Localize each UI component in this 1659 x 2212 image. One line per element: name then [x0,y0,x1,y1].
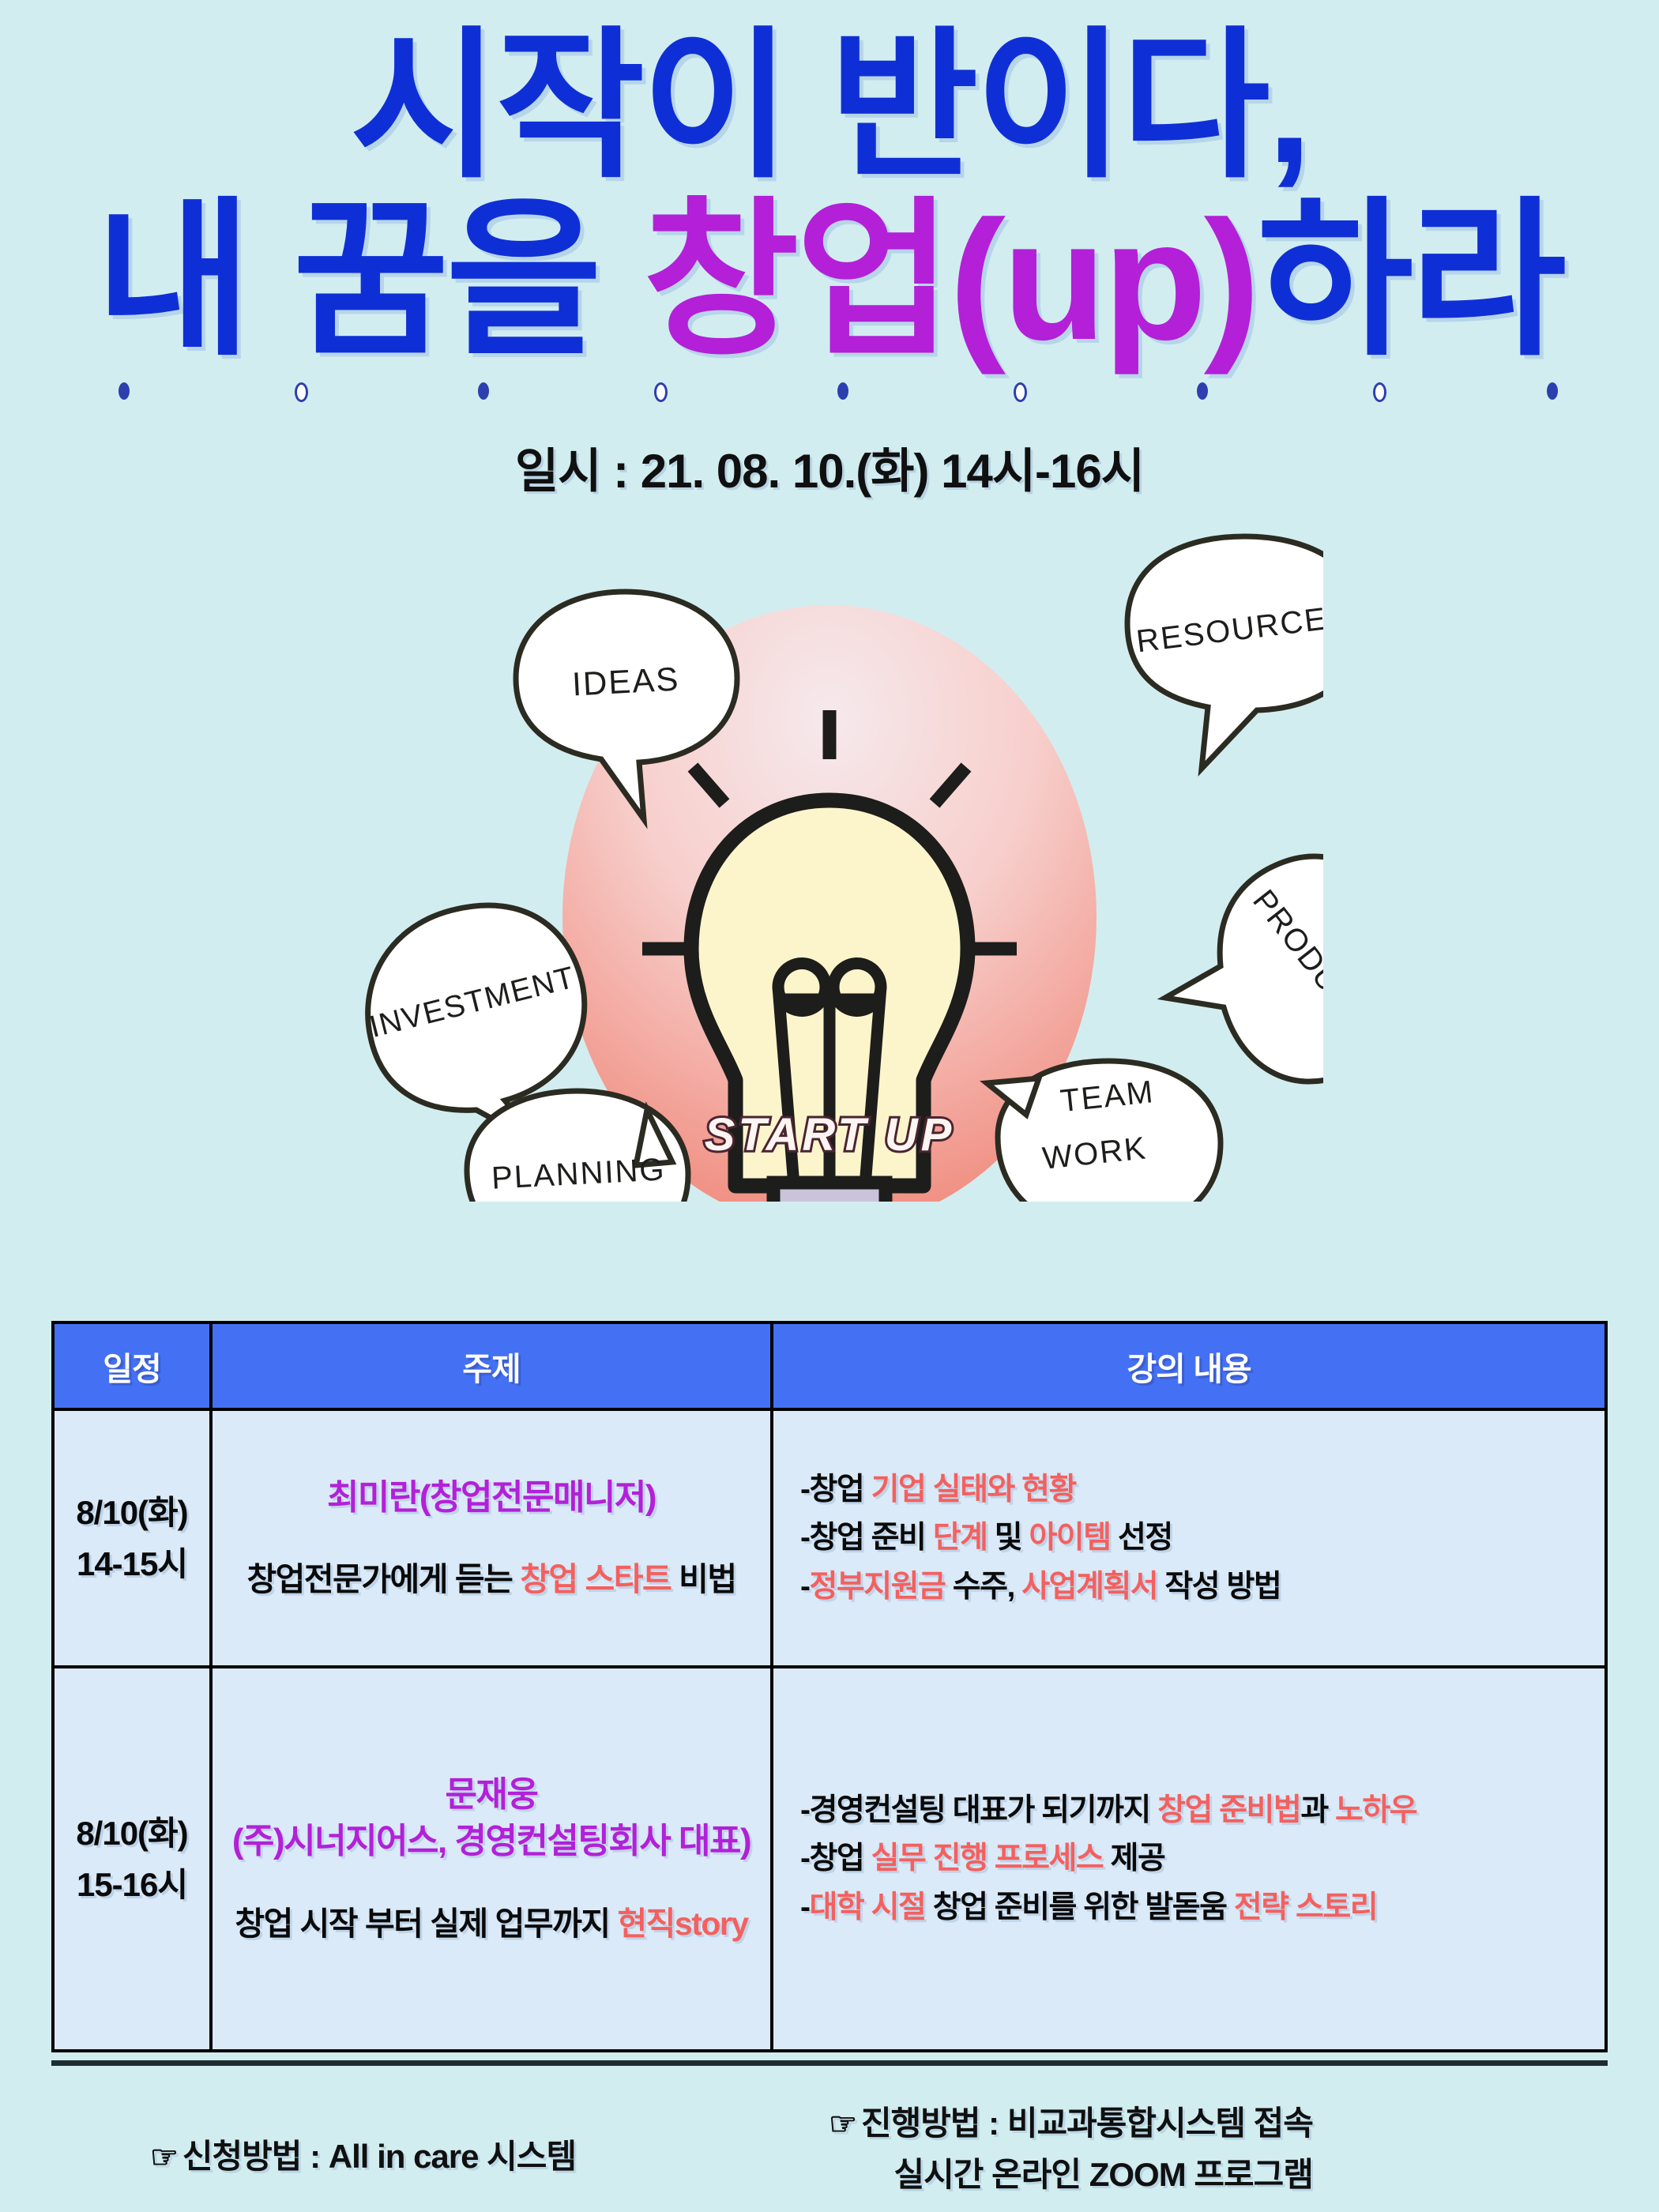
footer-delivery-line-2: 실시간 온라인 ZOOM 프로그램 [829,2149,1313,2200]
desc-plain: - [800,1570,810,1604]
title-line-2-suffix: 하라 [1257,185,1563,375]
desc-plain: -경영컨설팅 대표가 되기까지 [800,1793,1157,1827]
desc-plain: 수주, [945,1570,1021,1604]
desc-highlight: 대학 시절 [810,1890,926,1924]
desc-plain: -창업 [800,1841,871,1875]
footer-divider [51,2060,1608,2066]
bubble-products: PRODUCTS [1165,856,1323,1082]
decorative-dot [295,382,308,402]
desc-plain: 및 [987,1521,1029,1555]
desc-highlight: 단계 [933,1521,987,1555]
decorative-dot [1547,382,1558,400]
desc-line: -창업 실무 진행 프로세스 제공 [800,1834,1586,1883]
desc-line: -창업 준비 단계 및 아이템 선정 [800,1514,1586,1563]
desc-plain: 창업 준비를 위한 발돋움 [925,1890,1233,1924]
decorative-dot-row [0,376,1659,414]
event-datetime: 일시 : 21. 08. 10.(화) 14시-16시 [0,433,1659,502]
footer-delivery-method: ☞진행방법 : 비교과통합시스템 접속 실시간 온라인 ZOOM 프로그램 [829,2097,1313,2200]
desc-highlight: 노하우 [1335,1793,1416,1827]
table-header-row: 일정 주제 강의 내용 [53,1322,1606,1409]
desc-highlight: 실무 진행 프로세스 [871,1841,1104,1875]
column-header-when: 일정 [53,1322,211,1409]
desc-plain: 과 [1300,1793,1335,1827]
topic-speaker-name: 문재웅 [228,1771,754,1818]
footer: ☞신청방법 : All in care 시스템 ☞진행방법 : 비교과통합시스템… [0,2097,1659,2200]
bubble-teamwork: TEAM WORK [987,1061,1221,1202]
topic-subtitle-part: 비법 [671,1561,735,1597]
footer-apply-text: 신청방법 : All in care 시스템 [182,2138,576,2175]
decorative-dot [478,382,489,400]
cell-schedule-topic: 최미란(창업전문매니저) 창업전문가에게 듣는 창업 스타트 비법 [211,1409,772,1667]
when-time: 15-16시 [55,1859,209,1910]
title-line-2: 내 꿈을 창업(up)하라 [0,194,1659,367]
title-line-2-accent: 창업(up) [643,185,1257,375]
topic-subtitle-part: 창업 시작 부터 실제 업무까지 [235,1905,617,1942]
desc-highlight: 창업 준비법 [1157,1793,1300,1827]
svg-text:IDEAS: IDEAS [571,660,680,703]
desc-line: -대학 시절 창업 준비를 위한 발돋움 전략 스토리 [800,1883,1586,1932]
desc-line: -정부지원금 수주, 사업계획서 작성 방법 [800,1563,1586,1612]
desc-plain: -창업 [800,1473,871,1507]
cell-schedule-topic: 문재웅 (주)시너지어스, 경영컨설팅회사 대표) 창업 시작 부터 실제 업무… [211,1667,772,2051]
decorative-dot [837,382,848,400]
when-date: 8/10(화) [55,1808,209,1859]
decorative-dot [1373,382,1386,402]
desc-highlight: 전략 스토리 [1234,1890,1377,1924]
desc-highlight: 정부지원금 [810,1570,946,1604]
pointing-hand-icon: ☞ [829,2107,856,2142]
table-row: 8/10(화) 15-16시 문재웅 (주)시너지어스, 경영컨설팅회사 대표)… [53,1667,1606,2051]
cell-schedule-when: 8/10(화) 14-15시 [53,1409,211,1667]
topic-speaker-name: 최미란(창업전문매니저) [228,1474,754,1521]
topic-subtitle-highlight: 창업 스타트 [520,1561,671,1597]
when-time: 14-15시 [55,1538,209,1589]
start-up-label: START UP [705,1109,955,1161]
desc-plain: 제공 [1103,1841,1164,1875]
pointing-hand-icon: ☞ [150,2140,178,2175]
topic-subtitle-highlight: 현직story [617,1905,747,1942]
cell-schedule-desc: -경영컨설팅 대표가 되기까지 창업 준비법과 노하우 -창업 실무 진행 프로… [772,1667,1606,2051]
schedule-table-wrapper: 일정 주제 강의 내용 8/10(화) 14-15시 최미란(창업전문매니저) … [51,1321,1608,2052]
table-row: 8/10(화) 14-15시 최미란(창업전문매니저) 창업전문가에게 듣는 창… [53,1409,1606,1667]
column-header-desc: 강의 내용 [772,1322,1606,1409]
cell-schedule-when: 8/10(화) 15-16시 [53,1667,211,2051]
title-line-2-prefix: 내 꿈을 [96,185,643,375]
desc-highlight: 사업계획서 [1021,1570,1157,1604]
bubble-resources: RESOURCES [1127,536,1323,769]
cell-schedule-desc: -창업 기업 실태와 현황 -창업 준비 단계 및 아이템 선정 -정부지원금 … [772,1409,1606,1667]
desc-line: -창업 기업 실태와 현황 [800,1465,1586,1514]
when-date: 8/10(화) [55,1487,209,1538]
topic-speaker-affiliation: (주)시너지어스, 경영컨설팅회사 대표) [228,1818,754,1864]
topic-subtitle: 창업전문가에게 듣는 창업 스타트 비법 [228,1557,754,1602]
poster-title-block: 시작이 반이다, 내 꿈을 창업(up)하라 [0,0,1659,367]
poster-root: { "poster": { "background_color": "#d2ed… [0,0,1659,2212]
desc-plain: - [800,1890,810,1924]
desc-line: -경영컨설팅 대표가 되기까지 창업 준비법과 노하우 [800,1786,1586,1835]
startup-illustration: START UP IDEAS RESOURCES INVESTMENT PROD… [336,522,1323,1202]
column-header-topic: 주제 [211,1322,772,1409]
topic-subtitle: 창업 시작 부터 실제 업무까지 현직story [228,1902,754,1947]
lightbulb-base-collar [773,1183,886,1202]
footer-delivery-text-1: 진행방법 : 비교과통합시스템 접속 [861,2105,1313,2142]
topic-subtitle-part: 창업전문가에게 듣는 [246,1561,520,1597]
schedule-table: 일정 주제 강의 내용 8/10(화) 14-15시 최미란(창업전문매니저) … [51,1321,1608,2052]
title-line-1: 시작이 반이다, [0,24,1659,189]
decorative-dot [1197,382,1208,400]
desc-highlight: 아이템 [1029,1521,1111,1555]
desc-highlight: 기업 실태와 현황 [871,1473,1076,1507]
desc-plain: 작성 방법 [1157,1570,1281,1604]
decorative-dot [118,382,130,400]
desc-plain: 선정 [1111,1521,1172,1555]
decorative-dot [654,382,668,402]
footer-delivery-line-1: ☞진행방법 : 비교과통합시스템 접속 [829,2097,1313,2149]
decorative-dot [1014,382,1027,402]
footer-apply-method: ☞신청방법 : All in care 시스템 [150,2131,576,2182]
desc-plain: -창업 준비 [800,1521,933,1555]
